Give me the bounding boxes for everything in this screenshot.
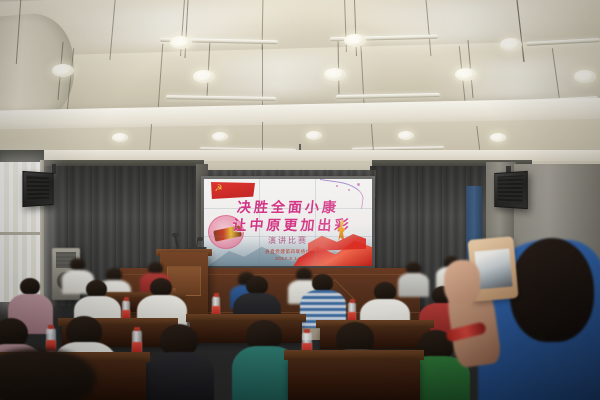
ceiling-downlight [212,132,228,141]
meeting-hall-scene: ☭ 决胜全面小康 让中原更加出彩 演讲比赛 县直党建第四联络组 2017.6.1… [0,0,600,400]
ceiling-downlight [170,36,192,49]
photographer-hand [444,260,480,304]
bottle-cap [350,299,355,303]
window-mullion [0,232,42,235]
bottle-cap [304,329,310,333]
bottle-cap [134,327,140,331]
smartphone-screen [474,249,512,290]
seated-attendee [20,278,40,295]
seated-attendee [146,352,214,400]
slide-dot-decoration [357,183,360,186]
screen-tile-seam [204,236,372,237]
ceiling-downlight [52,64,74,77]
bottle-cap [48,325,54,329]
ceiling-downlight [112,133,128,142]
ceiling-downlight [455,68,477,81]
hammer-sickle-icon: ☭ [214,184,223,193]
ceiling [0,0,600,152]
speaker-grill [498,175,523,203]
slide-dot-decoration [348,189,350,191]
bench-desk [288,359,420,400]
slide-title-line-2: 让中原更加出彩 [204,215,372,235]
ceiling-downlight [324,68,346,81]
speaker-grill [27,175,50,201]
ceiling-seam [262,122,263,152]
ceiling-downlight [306,131,322,140]
photographer-head [510,238,594,342]
projection-screen-frame: ☭ 决胜全面小康 让中原更加出彩 演讲比赛 县直党建第四联络组 2017.6.1… [201,176,375,269]
screen-tile-seam [204,208,372,209]
ceiling-downlight [500,38,522,51]
ceiling-downlight [398,131,414,140]
bottle-cap [124,297,129,301]
screen-tile-seam [259,179,260,266]
seated-attendee [398,273,429,297]
ceiling-downlight [490,133,506,142]
screen-tile-seam [315,179,316,266]
slide-dot-decoration [336,185,338,187]
ceiling-downlight [574,70,596,83]
bottle-cap [214,293,219,297]
ceiling-downlight [193,70,215,83]
projection-screen: ☭ 决胜全面小康 让中原更加出彩 演讲比赛 县直党建第四联络组 2017.6.1… [204,179,372,266]
ceiling-downlight [344,34,366,47]
